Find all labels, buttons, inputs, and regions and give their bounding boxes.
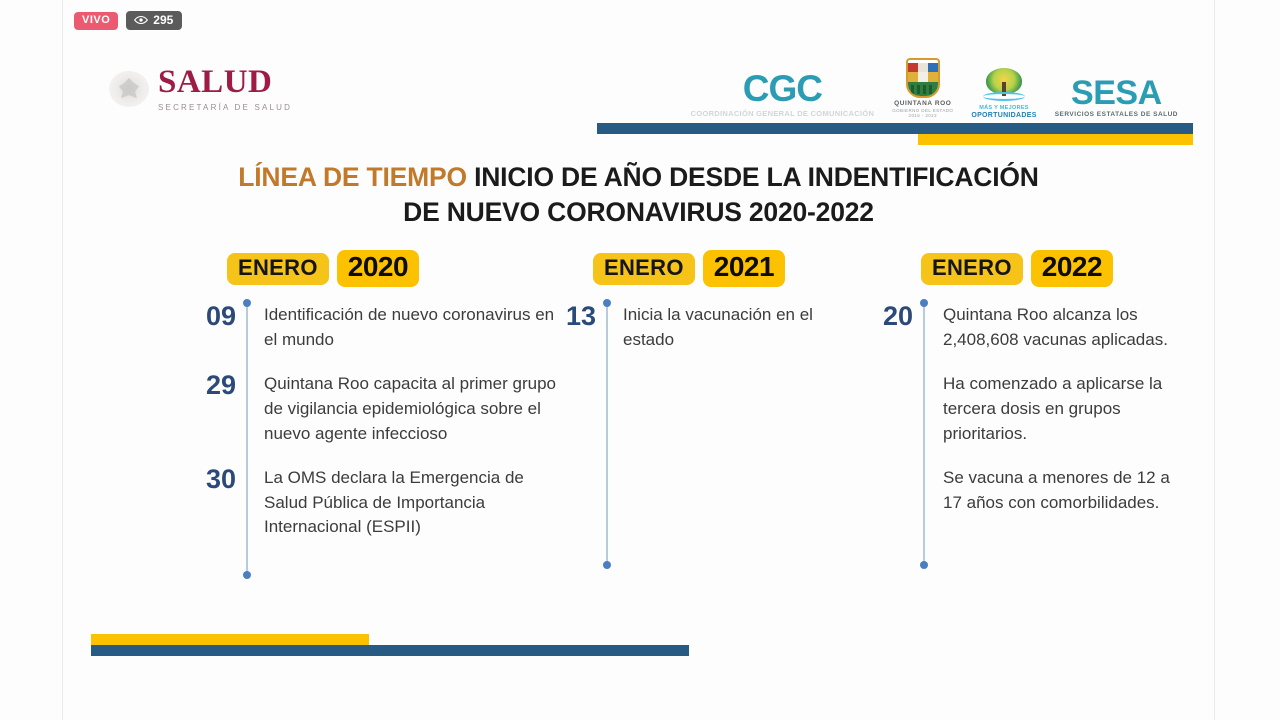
presentation-slide: SALUD SECRETARÍA DE SALUD CGC COORDINACI… bbox=[62, 0, 1215, 720]
event-day: 13 bbox=[528, 303, 596, 330]
timeline-track-2021: 13 Inicia la vacunación en el estado bbox=[528, 303, 828, 352]
event-text: Identificación de nuevo coronavirus en e… bbox=[236, 303, 563, 352]
footer-blue-bar bbox=[91, 645, 689, 656]
year-header-2022: ENERO 2022 bbox=[853, 250, 1183, 287]
timeline-track-2020: 09 Identificación de nuevo coronavirus e… bbox=[163, 303, 563, 540]
year-header-2021: ENERO 2021 bbox=[528, 250, 828, 287]
cgc-subtitle: COORDINACIÓN GENERAL DE COMUNICACIÓN bbox=[691, 109, 875, 118]
quintana-roo-logo: QUINTANA ROO GOBIERNO DEL ESTADO 2016 - … bbox=[892, 58, 953, 119]
quintana-roo-line1: QUINTANA ROO bbox=[892, 101, 953, 108]
quintana-roo-coat-of-arms-icon bbox=[906, 58, 940, 98]
event-text: Quintana Roo alcanza los 2,408,608 vacun… bbox=[913, 303, 1183, 352]
header-yellow-bar bbox=[918, 134, 1193, 145]
month-chip: ENERO bbox=[921, 253, 1023, 285]
timeline-event: 30 La OMS declara la Emergencia de Salud… bbox=[163, 466, 563, 540]
timeline-event: 20 Quintana Roo alcanza los 2,408,608 va… bbox=[853, 303, 1183, 352]
mexico-eagle-emblem-icon bbox=[109, 71, 149, 107]
timeline-events-2020: 09 Identificación de nuevo coronavirus e… bbox=[163, 303, 563, 540]
timeline-events-2021: 13 Inicia la vacunación en el estado bbox=[528, 303, 828, 352]
cgc-wordmark: CGC bbox=[691, 70, 875, 107]
timeline-column-2022: ENERO 2022 20 Quintana Roo alcanza los 2… bbox=[853, 250, 1183, 515]
axis-dot-bottom-icon bbox=[603, 561, 611, 569]
quintana-roo-line3: 2016 - 2022 bbox=[892, 114, 953, 119]
cgc-logo: CGC COORDINACIÓN GENERAL DE COMUNICACIÓN bbox=[691, 70, 875, 118]
sesa-subtitle: SERVICIOS ESTATALES DE SALUD bbox=[1055, 112, 1178, 119]
salud-subtitle: SECRETARÍA DE SALUD bbox=[158, 103, 292, 112]
footer-yellow-bar bbox=[91, 634, 369, 645]
salud-wordmark: SALUD bbox=[158, 66, 292, 99]
event-text: La OMS declara la Emergencia de Salud Pú… bbox=[236, 466, 563, 540]
timeline-event: 09 Identificación de nuevo coronavirus e… bbox=[163, 303, 563, 352]
event-text: Se vacuna a menores de 12 a 17 años con … bbox=[913, 466, 1183, 515]
viewer-count-value: 295 bbox=[153, 14, 173, 26]
event-day: 30 bbox=[163, 466, 236, 493]
event-text: Inicia la vacunación en el estado bbox=[596, 303, 828, 352]
title-rest: INICIO DE AÑO DESDE LA INDENTIFICACIÓN bbox=[467, 162, 1039, 192]
header-blue-bar bbox=[597, 123, 1193, 134]
live-badge: VIVO bbox=[74, 12, 118, 30]
title-line2: DE NUEVO CORONAVIRUS 2020-2022 bbox=[403, 197, 874, 227]
timeline-column-2020: ENERO 2020 09 Identificación de nuevo co… bbox=[163, 250, 563, 540]
event-text: Quintana Roo capacita al primer grupo de… bbox=[236, 372, 563, 446]
tree-icon bbox=[981, 68, 1027, 106]
live-stream-overlay: VIVO 295 bbox=[74, 11, 182, 30]
event-day: 20 bbox=[853, 303, 913, 330]
month-chip: ENERO bbox=[593, 253, 695, 285]
timeline-column-2021: ENERO 2021 13 Inicia la vacunación en el… bbox=[528, 250, 828, 352]
partner-logos: CGC COORDINACIÓN GENERAL DE COMUNICACIÓN… bbox=[691, 58, 1178, 119]
oportunidades-line2: OPORTUNIDADES bbox=[971, 112, 1036, 119]
title-accent: LÍNEA DE TIEMPO bbox=[238, 162, 467, 192]
salud-logo: SALUD SECRETARÍA DE SALUD bbox=[109, 66, 292, 112]
event-day: 09 bbox=[163, 303, 236, 330]
sesa-wordmark: SESA bbox=[1055, 76, 1178, 110]
event-day: 29 bbox=[163, 372, 236, 399]
year-chip: 2022 bbox=[1031, 250, 1113, 287]
timeline-event: Ha comenzado a aplicarse la tercera dosi… bbox=[853, 372, 1183, 446]
sesa-logo: SESA SERVICIOS ESTATALES DE SALUD bbox=[1055, 76, 1178, 119]
year-chip: 2020 bbox=[337, 250, 419, 287]
oportunidades-line1: MÁS Y MEJORES bbox=[971, 106, 1036, 112]
viewer-count-badge: 295 bbox=[126, 11, 182, 30]
oportunidades-logo: MÁS Y MEJORES OPORTUNIDADES bbox=[971, 68, 1036, 119]
page-title: LÍNEA DE TIEMPO INICIO DE AÑO DESDE LA I… bbox=[63, 160, 1214, 230]
axis-dot-bottom-icon bbox=[920, 561, 928, 569]
timeline-track-2022: 20 Quintana Roo alcanza los 2,408,608 va… bbox=[853, 303, 1183, 515]
year-chip: 2021 bbox=[703, 250, 785, 287]
timeline-event: 13 Inicia la vacunación en el estado bbox=[528, 303, 828, 352]
year-header-2020: ENERO 2020 bbox=[163, 250, 563, 287]
axis-dot-bottom-icon bbox=[243, 571, 251, 579]
eye-icon bbox=[134, 15, 148, 25]
event-text: Ha comenzado a aplicarse la tercera dosi… bbox=[913, 372, 1183, 446]
timeline-event: Se vacuna a menores de 12 a 17 años con … bbox=[853, 466, 1183, 515]
month-chip: ENERO bbox=[227, 253, 329, 285]
timeline-event: 29 Quintana Roo capacita al primer grupo… bbox=[163, 372, 563, 446]
slide-stage: VIVO 295 SALUD SECRETARÍA DE SALUD CGC bbox=[0, 0, 1280, 720]
timeline-events-2022: 20 Quintana Roo alcanza los 2,408,608 va… bbox=[853, 303, 1183, 515]
